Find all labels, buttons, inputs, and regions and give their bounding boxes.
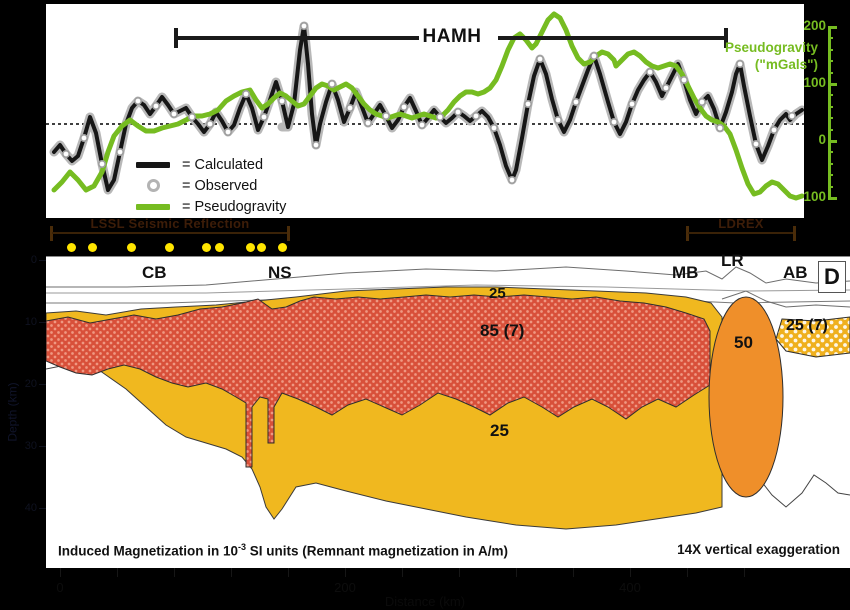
axis-minor-tick (828, 151, 833, 153)
shot-point (202, 243, 211, 252)
distance-axis-title: Distance (km) (385, 594, 465, 609)
body-value-east-band: 25 (7) (786, 317, 828, 335)
hamh-label: HAMH (422, 26, 482, 48)
cross-section-model (46, 257, 850, 569)
distance-tick (630, 568, 631, 577)
distance-axis: 0 200 400 Distance (km) (0, 568, 850, 610)
cross-section-panel: CB NS MB LR AB D 25 85 (7) 25 50 25 (7) (46, 256, 850, 569)
shot-point (88, 243, 97, 252)
profile-legend: = Calculated = Observed = Pseudogravity (132, 154, 362, 217)
shot-point (67, 243, 76, 252)
pseudogravity-axis: 200 100 0 -100 (812, 4, 850, 218)
shot-point (215, 243, 224, 252)
axis-label-100: 100 (803, 75, 826, 90)
survey-lssl-seismic-reflection: LSSL Seismic Reflection (50, 224, 290, 242)
distance-tick (687, 568, 688, 577)
axis-label-neg100: -100 (799, 189, 826, 204)
shot-point (257, 243, 266, 252)
distance-tick (174, 568, 175, 577)
distance-tick (117, 568, 118, 577)
survey-label-ldrex: LDREX (686, 216, 796, 231)
depth-tick (39, 322, 46, 323)
axis-minor-tick (828, 117, 833, 119)
pseudogravity-axis-line (828, 26, 831, 198)
survey-bar (52, 232, 288, 234)
distance-tick (573, 568, 574, 577)
axis-minor-tick (828, 106, 833, 108)
depth-label-20: 20 (25, 378, 37, 390)
xsec-label-mb: MB (672, 263, 698, 283)
distance-tick (744, 568, 745, 577)
axis-minor-tick (828, 163, 833, 165)
survey-ldrex: LDREX (686, 224, 796, 242)
legend-line-green-icon (132, 204, 174, 210)
xsec-label-ab: AB (783, 263, 808, 283)
body-value-lower-yellow: 25 (490, 421, 509, 441)
shot-point (246, 243, 255, 252)
caption-magnetization-exponent: -3 (238, 542, 246, 552)
depth-tick (39, 446, 46, 447)
axis-label-200: 200 (803, 18, 826, 33)
caption-magnetization: Induced Magnetization in 10-3 SI units (… (58, 542, 508, 559)
distance-tick (459, 568, 460, 577)
axis-minor-tick (828, 49, 833, 51)
pseudogravity-axis-title: Pseudogravity ("mGals") (722, 40, 818, 74)
distance-label-200: 200 (334, 580, 356, 595)
axis-minor-tick (828, 129, 833, 131)
caption-vertical-exaggeration: 14X vertical exaggeration (677, 542, 840, 557)
survey-label-lssl: LSSL Seismic Reflection (50, 216, 290, 231)
caption-magnetization-suffix: SI units (Remnant magnetization in A/m) (246, 544, 508, 559)
depth-label-30: 30 (25, 440, 37, 452)
body-lr-orange-50 (709, 297, 783, 497)
legend-line-black-icon (132, 162, 174, 168)
survey-bar (688, 232, 794, 234)
distance-tick (288, 568, 289, 577)
distance-label-400: 400 (619, 580, 641, 595)
depth-tick (39, 508, 46, 509)
axis-tick-100 (828, 83, 837, 86)
axis-minor-tick (828, 72, 833, 74)
distance-tick (345, 568, 346, 577)
depth-tick (39, 260, 46, 261)
hamh-bar-right (498, 36, 728, 40)
figure-root: HAMH = Calculated = Observed = Pseudogra… (0, 0, 850, 610)
distance-tick (231, 568, 232, 577)
legend-label-observed: = Observed (182, 178, 257, 194)
panel-letter-box: D (818, 261, 846, 293)
axis-tick-neg100 (828, 197, 837, 200)
axis-label-0: 0 (818, 132, 826, 147)
legend-item-pseudogravity: = Pseudogravity (132, 196, 362, 217)
legend-circle-gray-icon (132, 179, 174, 192)
pseudogravity-axis-title-line1: Pseudogravity (722, 40, 818, 57)
body-value-upper-yellow: 25 (489, 285, 506, 302)
depth-label-10: 10 (25, 316, 37, 328)
depth-axis-title: Depth (km) (6, 382, 20, 441)
depth-tick (39, 384, 46, 385)
hamh-bracket: HAMH (174, 26, 728, 48)
axis-tick-200 (828, 26, 837, 29)
caption-magnetization-prefix: Induced Magnetization in 10 (58, 544, 238, 559)
depth-axis: 0 10 20 30 40 Depth (km) (0, 256, 46, 568)
legend-label-pseudogravity: = Pseudogravity (182, 199, 286, 215)
legend-item-calculated: = Calculated (132, 154, 362, 175)
axis-minor-tick (828, 94, 833, 96)
magnetic-profile-panel: HAMH = Calculated = Observed = Pseudogra… (46, 4, 804, 218)
body-value-lr-orange: 50 (734, 333, 753, 353)
axis-minor-tick (828, 37, 833, 39)
distance-label-0: 0 (56, 580, 63, 595)
xsec-label-ns: NS (268, 263, 292, 283)
axis-minor-tick (828, 186, 833, 188)
legend-label-calculated: = Calculated (182, 157, 263, 173)
depth-label-0: 0 (31, 254, 37, 266)
distance-tick (516, 568, 517, 577)
shot-point (127, 243, 136, 252)
body-value-red-stippled: 85 (7) (480, 321, 524, 341)
xsec-label-lr: LR (721, 251, 744, 271)
axis-minor-tick (828, 60, 833, 62)
axis-tick-0 (828, 140, 837, 143)
distance-tick (402, 568, 403, 577)
distance-tick (60, 568, 61, 577)
xsec-label-cb: CB (142, 263, 167, 283)
shot-point (278, 243, 287, 252)
pseudogravity-axis-title-line2: ("mGals") (722, 57, 818, 74)
shot-point (165, 243, 174, 252)
legend-item-observed: = Observed (132, 175, 362, 196)
cross-section-caption: Induced Magnetization in 10-3 SI units (… (46, 534, 850, 569)
depth-label-40: 40 (25, 502, 37, 514)
axis-minor-tick (828, 174, 833, 176)
hamh-bar-left (174, 36, 419, 40)
